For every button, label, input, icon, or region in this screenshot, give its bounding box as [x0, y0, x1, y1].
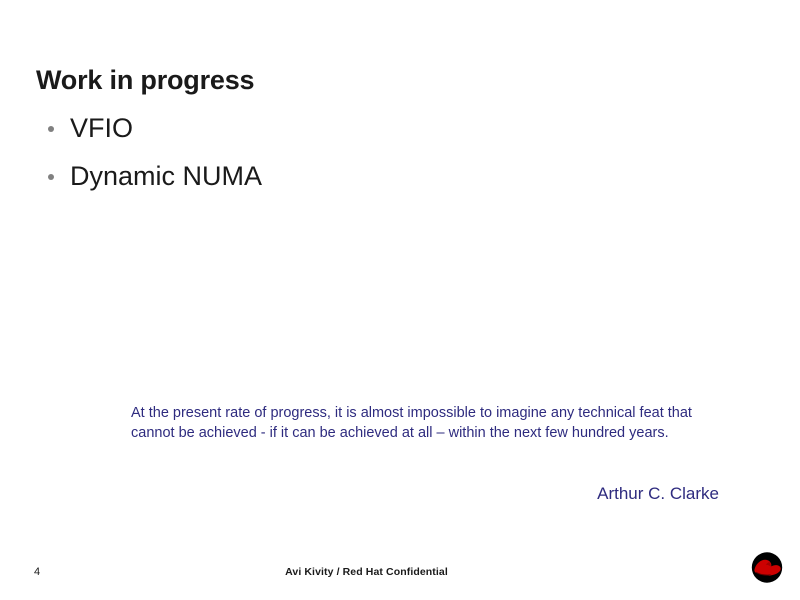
footer-confidentiality-text: Avi Kivity / Red Hat Confidential: [0, 566, 733, 578]
presentation-slide: Work in progress VFIO Dynamic NUMA At th…: [0, 0, 800, 600]
red-hat-shadowman-logo: [747, 549, 789, 587]
bullet-item-label: VFIO: [70, 113, 133, 143]
bullet-dot-icon: [44, 161, 70, 192]
list-item: Dynamic NUMA: [44, 161, 744, 209]
list-item: VFIO: [44, 113, 744, 161]
bullet-item-label: Dynamic NUMA: [70, 161, 262, 191]
quote-text: At the present rate of progress, it is a…: [131, 403, 739, 443]
page-title: Work in progress: [36, 65, 254, 96]
quote-attribution: Arthur C. Clarke: [131, 484, 719, 504]
bullet-list: VFIO Dynamic NUMA: [44, 113, 744, 209]
bullet-dot-icon: [44, 113, 70, 144]
